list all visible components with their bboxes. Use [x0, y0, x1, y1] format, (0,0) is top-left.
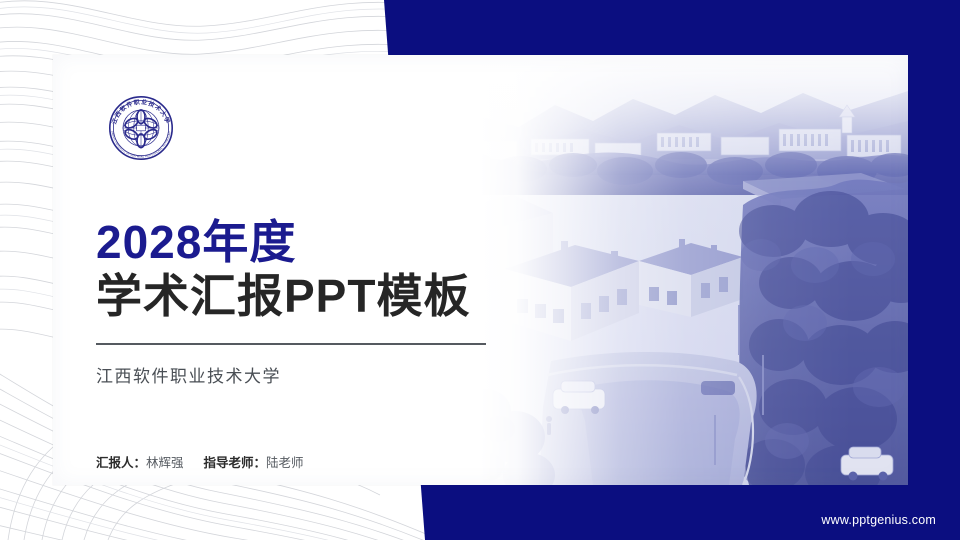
- university-seal-logo: 江西软件职业技术大学 JIANGXI UNIVERSITY OF SOFTWAR…: [95, 88, 187, 168]
- title-block: 2028年度 学术汇报PPT模板 江西软件职业技术大学: [96, 215, 486, 387]
- advisor-label: 指导老师：: [204, 456, 267, 470]
- reporter-label: 汇报人：: [96, 456, 146, 470]
- title-line-main: 学术汇报PPT模板: [96, 269, 486, 323]
- title-line-year: 2028年度: [96, 215, 486, 269]
- photo-top-fade: [443, 55, 908, 175]
- reporter-name: 林辉强: [146, 456, 184, 470]
- website-watermark[interactable]: www.pptgenius.com: [821, 513, 936, 527]
- title-divider-rule: [96, 343, 486, 345]
- subtitle-university-name: 江西软件职业技术大学: [96, 362, 486, 387]
- presentation-slide: 江西软件职业技术大学 JIANGXI UNIVERSITY OF SOFTWAR…: [0, 0, 960, 540]
- advisor-name: 陆老师: [266, 456, 304, 470]
- presenter-info: 汇报人：林辉强指导老师：陆老师: [96, 452, 304, 471]
- campus-photo-container: [443, 55, 908, 485]
